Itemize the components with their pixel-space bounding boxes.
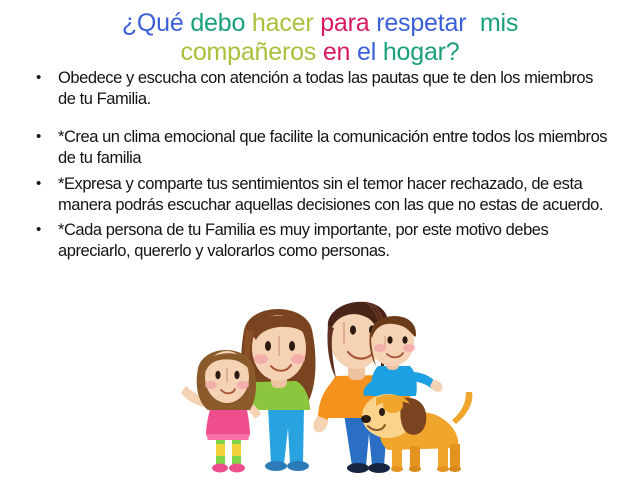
title-word: el bbox=[357, 38, 376, 66]
bullet-list: • Obedece y escucha con atención a todas… bbox=[0, 68, 640, 261]
family-illustration bbox=[176, 286, 476, 480]
title-word: en bbox=[323, 38, 350, 66]
page-title: ¿Qué debo hacer para respetar miscompañe… bbox=[0, 0, 640, 67]
title-word: debo bbox=[190, 9, 245, 37]
list-item: • *Crea un clima emocional que facilite … bbox=[0, 127, 640, 168]
title-word: respetar bbox=[376, 9, 466, 37]
title-word: hogar? bbox=[383, 38, 460, 66]
list-item: • Obedece y escucha con atención a todas… bbox=[0, 68, 640, 109]
list-item-text: Obedece y escucha con atención a todas l… bbox=[58, 68, 610, 109]
title-word bbox=[376, 38, 383, 66]
title-word bbox=[245, 9, 252, 37]
list-item-text: *Expresa y comparte tus sentimientos sin… bbox=[58, 174, 610, 215]
list-item-text: *Cada persona de tu Familia es muy impor… bbox=[58, 220, 610, 261]
girl-figure bbox=[181, 350, 261, 473]
list-item: • *Cada persona de tu Familia es muy imp… bbox=[0, 220, 640, 261]
title-word bbox=[350, 38, 357, 66]
bullet-marker-icon: • bbox=[36, 220, 58, 241]
title-word: compañeros bbox=[181, 38, 317, 66]
family-with-dog-icon bbox=[176, 286, 476, 480]
bullet-marker-icon: • bbox=[36, 127, 58, 148]
title-word: hacer bbox=[252, 9, 314, 37]
title-word: para bbox=[320, 9, 369, 37]
list-item-text: *Crea un clima emocional que facilite la… bbox=[58, 127, 610, 168]
list-item: • *Expresa y comparte tus sentimientos s… bbox=[0, 174, 640, 215]
title-word bbox=[466, 9, 480, 37]
list-spacer bbox=[0, 109, 640, 127]
title-word: ¿Qué bbox=[122, 9, 184, 37]
bullet-marker-icon: • bbox=[36, 68, 58, 89]
bullet-marker-icon: • bbox=[36, 174, 58, 195]
title-word: mis bbox=[480, 9, 518, 37]
title-word bbox=[316, 38, 323, 66]
